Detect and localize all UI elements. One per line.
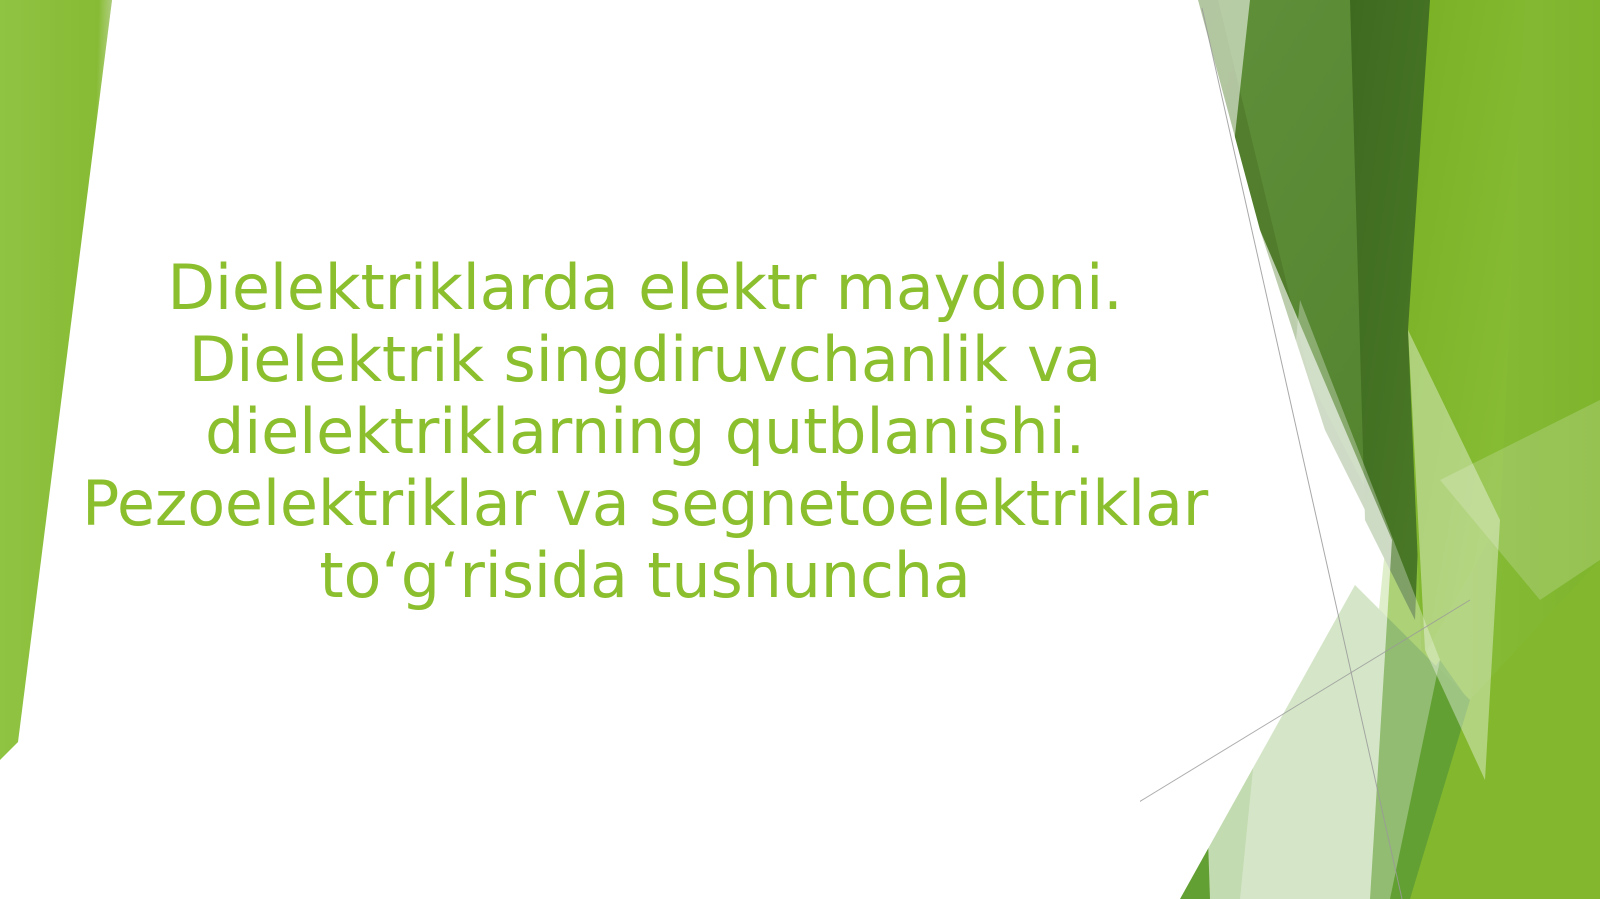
page-title: Dielektriklarda elektr maydoni. Dielektr… <box>70 252 1220 612</box>
facet-deep-wedge <box>1350 0 1440 620</box>
facet-pale-overlay-3 <box>1408 330 1500 780</box>
facet-olive-band <box>1218 0 1430 540</box>
facet-dark-band <box>1198 0 1430 560</box>
presentation-slide: Dielektriklarda elektr maydoni. Dielektr… <box>0 0 1600 899</box>
title-placeholder: Dielektriklarda elektr maydoni. Dielektr… <box>70 252 1220 612</box>
facet-bright-lower-block <box>1410 560 1600 899</box>
facet-highlight-sliver <box>1195 0 1250 270</box>
facet-pale-overlay-1 <box>1200 230 1392 899</box>
facet-bright-middle-wedge <box>1408 0 1525 660</box>
facet-pale-overlay-2 <box>1240 300 1440 899</box>
facet-bright-right-column <box>1350 0 1600 899</box>
facet-pale-overlay-4 <box>1440 400 1600 600</box>
facet-mid-lower-diagonal <box>1260 660 1560 899</box>
hairline-stroke-diagonal-down <box>1202 8 1402 899</box>
facet-mid-sweep <box>1180 585 1530 899</box>
hairline-stroke-diagonal-cross <box>1140 600 1470 899</box>
